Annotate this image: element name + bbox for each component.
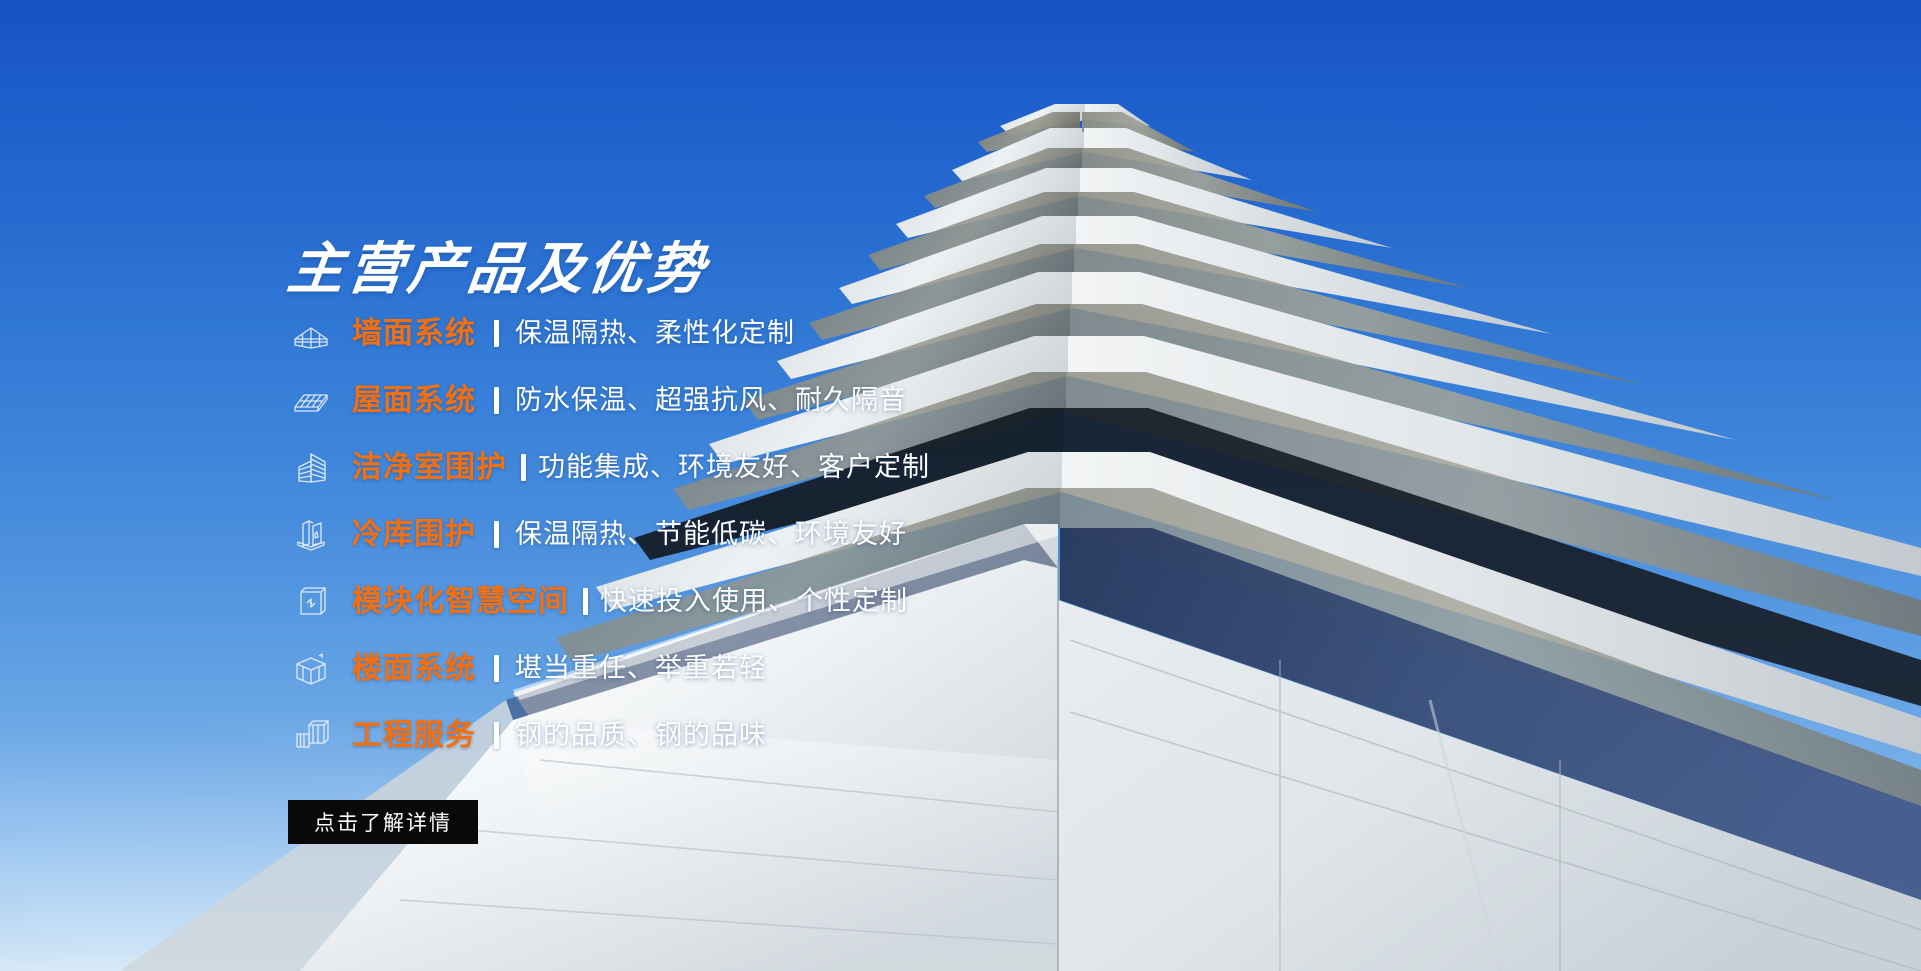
feature-title: 工程服务 xyxy=(352,721,476,751)
learn-more-button[interactable]: 点击了解详情 xyxy=(288,800,478,844)
feature-title: 屋面系统 xyxy=(352,386,476,416)
feature-separator-bar xyxy=(521,454,526,481)
product-advantages-banner: 主营产品及优势 墙面系统 保温隔热、柔性化定制 xyxy=(0,0,1921,971)
feature-description: 保温隔热、节能低碳、环境友好 xyxy=(515,521,907,548)
feature-title: 楼面系统 xyxy=(352,654,476,684)
cleanroom-enclosure-icon xyxy=(288,445,334,491)
feature-description: 功能集成、环境友好、客户定制 xyxy=(538,454,930,481)
feature-description: 保温隔热、柔性化定制 xyxy=(515,320,795,347)
roof-system-icon xyxy=(288,378,334,424)
feature-separator-bar xyxy=(494,722,499,749)
cold-storage-enclosure-icon xyxy=(288,512,334,558)
feature-description: 快速投入使用、个性定制 xyxy=(600,588,908,615)
feature-separator-bar xyxy=(494,387,499,414)
feature-row-wall-system[interactable]: 墙面系统 保温隔热、柔性化定制 xyxy=(288,300,1188,367)
floor-system-icon xyxy=(288,646,334,692)
page-title: 主营产品及优势 xyxy=(285,241,712,297)
feature-separator-bar xyxy=(494,521,499,548)
feature-description: 钢的品质、钢的品味 xyxy=(515,722,767,749)
feature-title: 墙面系统 xyxy=(352,319,476,349)
feature-row-floor-system[interactable]: 楼面系统 堪当重任、举重若轻 xyxy=(288,635,1188,702)
engineering-service-icon xyxy=(288,713,334,759)
feature-row-engineering-service[interactable]: 工程服务 钢的品质、钢的品味 xyxy=(288,702,1188,769)
feature-description: 堪当重任、举重若轻 xyxy=(515,655,767,682)
modular-smart-space-icon xyxy=(288,579,334,625)
wall-system-icon xyxy=(288,311,334,357)
banner-content: 主营产品及优势 墙面系统 保温隔热、柔性化定制 xyxy=(288,0,1188,971)
feature-separator-bar xyxy=(583,588,588,615)
feature-row-cold-storage-enclosure[interactable]: 冷库围护 保温隔热、节能低碳、环境友好 xyxy=(288,501,1188,568)
feature-description: 防水保温、超强抗风、耐久隔音 xyxy=(515,387,907,414)
feature-title: 冷库围护 xyxy=(352,520,476,550)
feature-separator-bar xyxy=(494,655,499,682)
feature-title: 洁净室围护 xyxy=(352,453,507,483)
feature-separator-bar xyxy=(494,320,499,347)
feature-title: 模块化智慧空间 xyxy=(352,587,569,617)
feature-row-modular-smart-space[interactable]: 模块化智慧空间 快速投入使用、个性定制 xyxy=(288,568,1188,635)
feature-row-roof-system[interactable]: 屋面系统 防水保温、超强抗风、耐久隔音 xyxy=(288,367,1188,434)
feature-row-cleanroom-enclosure[interactable]: 洁净室围护 功能集成、环境友好、客户定制 xyxy=(288,434,1188,501)
feature-list: 墙面系统 保温隔热、柔性化定制 屋面系统 xyxy=(288,300,1188,769)
